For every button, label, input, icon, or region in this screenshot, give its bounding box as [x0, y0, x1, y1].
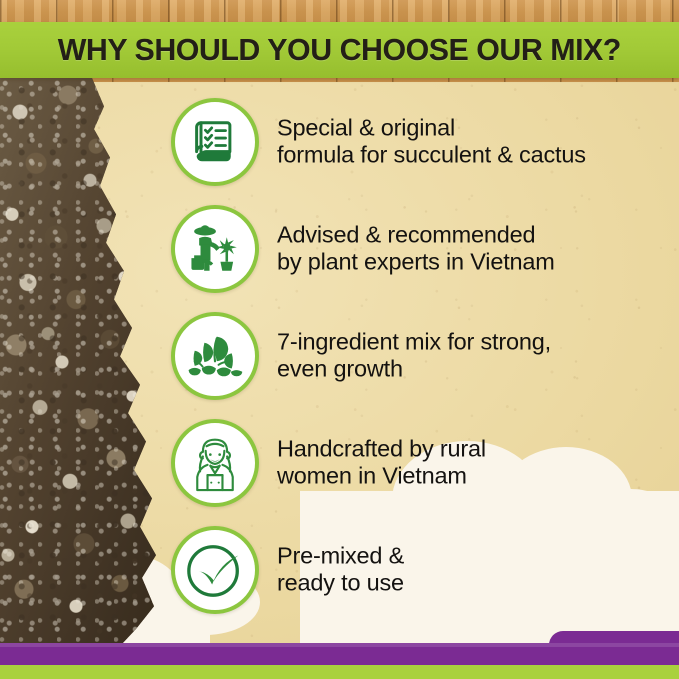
- feature-line-2: formula for succulent & cactus: [277, 142, 677, 169]
- purple-bottom-bar-step: [549, 631, 679, 665]
- feature-line-2: even growth: [277, 356, 677, 383]
- feature-row: 7-ingredient mix for strong, even growth: [0, 302, 679, 409]
- feature-row: Handcrafted by rural women in Vietnam: [0, 409, 679, 516]
- purple-bar-highlight: [0, 643, 679, 647]
- feature-line-2: women in Vietnam: [277, 463, 677, 490]
- infographic-canvas: WHY SHOULD YOU CHOOSE OUR MIX?: [0, 0, 679, 679]
- feature-list: Special & original formula for succulent…: [0, 88, 679, 623]
- bottom-green-strip: [0, 665, 679, 679]
- rural-woman-icon: [171, 419, 259, 507]
- page-title: WHY SHOULD YOU CHOOSE OUR MIX?: [58, 32, 621, 68]
- feature-line-2: ready to use: [277, 570, 677, 597]
- checklist-scroll-icon: [171, 98, 259, 186]
- feature-text: 7-ingredient mix for strong, even growth: [277, 328, 677, 383]
- checkmark-circle-icon: [171, 526, 259, 614]
- sprouting-plants-icon: [171, 312, 259, 400]
- feature-text: Advised & recommended by plant experts i…: [277, 221, 677, 276]
- feature-row: Advised & recommended by plant experts i…: [0, 195, 679, 302]
- feature-line-1: Advised & recommended: [277, 221, 677, 248]
- feature-line-1: Special & original: [277, 114, 677, 141]
- feature-line-1: Pre-mixed &: [277, 542, 677, 569]
- feature-text: Handcrafted by rural women in Vietnam: [277, 435, 677, 490]
- feature-line-1: Handcrafted by rural: [277, 435, 677, 462]
- feature-line-2: by plant experts in Vietnam: [277, 249, 677, 276]
- gardener-watering-icon: [171, 205, 259, 293]
- feature-text: Special & original formula for succulent…: [277, 114, 677, 169]
- feature-row: Pre-mixed & ready to use: [0, 516, 679, 623]
- title-banner: WHY SHOULD YOU CHOOSE OUR MIX?: [0, 22, 679, 78]
- feature-line-1: 7-ingredient mix for strong,: [277, 328, 677, 355]
- feature-text: Pre-mixed & ready to use: [277, 542, 677, 597]
- feature-row: Special & original formula for succulent…: [0, 88, 679, 195]
